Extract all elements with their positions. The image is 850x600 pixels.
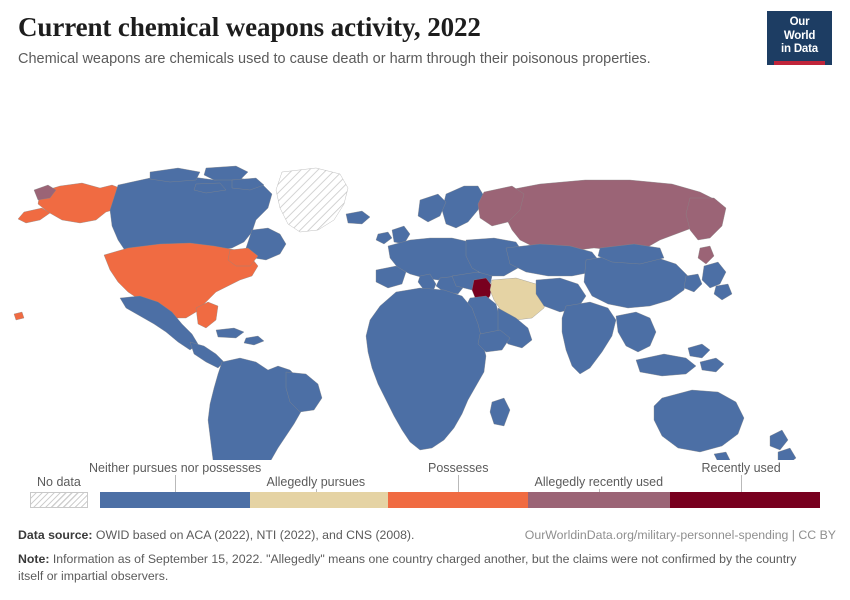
country-indonesia[interactable] <box>636 354 696 376</box>
legend-label-no-data: No data <box>37 475 81 489</box>
country-alaska-west[interactable] <box>18 208 50 223</box>
legend-label-5: Recently used <box>702 461 781 475</box>
country-new-zealand-north[interactable] <box>770 430 788 450</box>
legend-segment-5[interactable] <box>670 492 820 508</box>
owid-logo[interactable]: Our World in Data <box>767 11 832 65</box>
logo-line-1: Our World <box>774 16 825 43</box>
map-svg <box>0 80 850 460</box>
data-source-line: Data source: OWID based on ACA (2022), N… <box>18 528 414 542</box>
country-india[interactable] <box>562 302 616 374</box>
note-line: Note: Information as of September 15, 20… <box>18 551 808 585</box>
logo-accent-bar <box>774 61 825 65</box>
legend-label-3: Possesses <box>428 461 488 475</box>
country-cuba[interactable] <box>216 328 244 338</box>
data-source-prefix: Data source: <box>18 528 93 542</box>
country-madagascar[interactable] <box>490 398 510 426</box>
country-greenland[interactable] <box>276 168 348 232</box>
legend-label-4: Allegedly recently used <box>535 475 664 489</box>
country-norway-west[interactable] <box>418 194 446 222</box>
legend-label-1: Neither pursues nor possesses <box>89 461 261 475</box>
legend-bar-row <box>0 492 850 508</box>
legend-tick-5 <box>741 475 742 492</box>
data-source-text: OWID based on ACA (2022), NTI (2022), an… <box>96 528 415 542</box>
legend-label-row: No dataNeither pursues nor possessesAlle… <box>0 462 850 494</box>
country-australia[interactable] <box>654 390 744 452</box>
country-korea[interactable] <box>684 274 702 292</box>
country-hispaniola[interactable] <box>244 336 264 345</box>
source-url[interactable]: OurWorldinData.org/military-personnel-sp… <box>525 528 836 542</box>
page-title: Current chemical weapons activity, 2022 <box>18 12 832 43</box>
country-central-america[interactable] <box>190 342 224 368</box>
legend-segment-3[interactable] <box>388 492 528 508</box>
legend-segment-1[interactable] <box>100 492 250 508</box>
chart-footer: Data source: OWID based on ACA (2022), N… <box>18 528 836 585</box>
country-africa[interactable] <box>366 288 486 450</box>
owid-chart: Current chemical weapons activity, 2022 … <box>0 0 850 600</box>
country-iceland[interactable] <box>346 211 370 224</box>
legend-tick-1 <box>175 475 176 492</box>
page-subtitle: Chemical weapons are chemicals used to c… <box>18 50 832 69</box>
note-text: Information as of September 15, 2022. "A… <box>18 552 796 583</box>
note-prefix: Note: <box>18 552 49 566</box>
country-tasmania[interactable] <box>714 452 730 460</box>
world-choropleth-map[interactable] <box>0 80 850 460</box>
legend-label-2: Allegedly pursues <box>267 475 366 489</box>
country-ireland[interactable] <box>376 232 392 244</box>
country-japan[interactable] <box>702 262 726 288</box>
country-new-guinea-west[interactable] <box>700 358 724 372</box>
legend-no-data-swatch[interactable] <box>30 492 88 508</box>
country-southeast-asia[interactable] <box>616 312 656 352</box>
chart-header: Current chemical weapons activity, 2022 … <box>18 12 832 69</box>
country-pacific-territory[interactable] <box>14 312 24 320</box>
country-iberia[interactable] <box>376 266 406 288</box>
country-japan-south[interactable] <box>714 284 732 300</box>
legend-segment-2[interactable] <box>250 492 388 508</box>
country-sakhalin[interactable] <box>698 246 714 264</box>
legend-tick-3 <box>458 475 459 492</box>
country-russia-fareast[interactable] <box>686 198 726 240</box>
map-legend: No dataNeither pursues nor possessesAlle… <box>0 462 850 514</box>
country-new-zealand-south[interactable] <box>778 448 796 460</box>
country-canada-arctic1[interactable] <box>150 168 200 182</box>
logo-line-2: in Data <box>774 43 825 57</box>
country-scandinavia[interactable] <box>442 186 484 228</box>
country-philippines[interactable] <box>688 344 710 358</box>
country-canada-arctic2[interactable] <box>204 166 248 180</box>
legend-segment-4[interactable] <box>528 492 670 508</box>
